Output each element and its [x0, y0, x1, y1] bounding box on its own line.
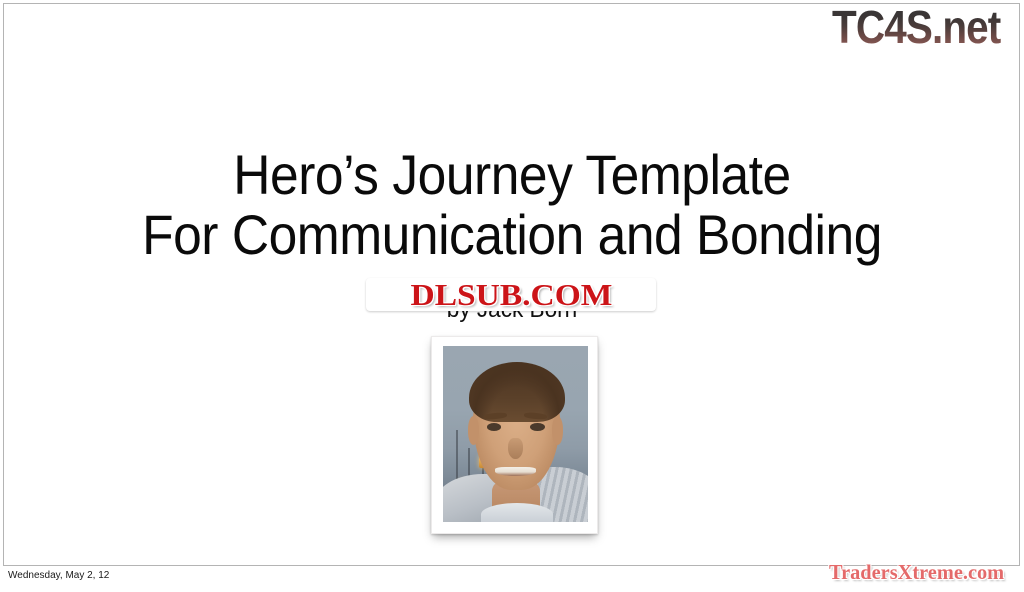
- watermark-tc4s-net: TC4S.net: [832, 2, 1001, 52]
- photo-nose: [508, 438, 523, 459]
- footer-date: Wednesday, May 2, 12: [8, 570, 109, 581]
- photo-shirt-collar: [481, 503, 554, 522]
- title-line-2: For Communication and Bonding: [41, 205, 983, 265]
- photo-image: [443, 346, 588, 522]
- photo-ear-right: [552, 416, 564, 444]
- page-title: Hero’s Journey Template For Communicatio…: [0, 145, 1024, 266]
- watermark-tradersxtreme-com: TradersXtreme.com: [829, 561, 1015, 584]
- title-line-1: Hero’s Journey Template: [41, 145, 983, 205]
- photo-ear-left: [468, 416, 480, 444]
- photo-frame: [431, 336, 598, 534]
- watermark-dlsub-com: DLSUB.COM: [366, 278, 656, 311]
- watermark-dlsub-com-text: DLSUB.COM: [410, 279, 612, 310]
- author-photo: [431, 336, 598, 534]
